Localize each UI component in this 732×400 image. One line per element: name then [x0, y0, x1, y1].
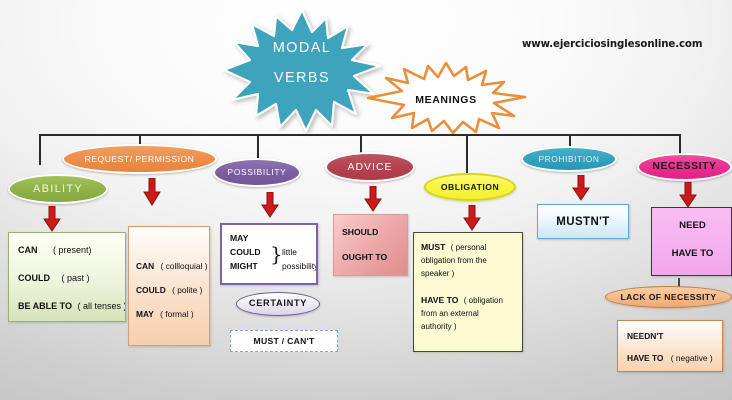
obligation-term-0: MUST	[421, 242, 445, 252]
branch-ellipse-possibility[interactable]: POSSIBILITY	[213, 158, 301, 187]
certainty-label: CERTAINTY	[249, 299, 307, 308]
ability-note-0: ( present)	[53, 245, 92, 255]
tree-stem-obligation	[466, 134, 468, 173]
sub-ellipse-lack-of-necessity[interactable]: LACK OF NECESSITY	[605, 286, 732, 308]
arrow-down-advice	[364, 186, 382, 212]
branch-ellipse-necessity[interactable]: NECESSITY	[637, 153, 732, 181]
possibility-term-1: COULD	[230, 247, 261, 257]
possibility-term-2: MIGHT	[230, 261, 258, 271]
diagram-canvas: MODAL VERBS MEANINGS www.ejerciciosingle…	[0, 0, 732, 400]
request-term-1: COULD	[136, 285, 166, 295]
obligation-note-1-line3: authority )	[421, 322, 503, 331]
branch-label-obligation: OBLIGATION	[441, 183, 499, 192]
lack-of-necessity-label: LACK OF NECESSITY	[620, 293, 716, 302]
branch-label-prohibition: PROHIBITION	[538, 155, 599, 163]
branch-ellipse-prohibition[interactable]: PROHIBITION	[521, 146, 617, 172]
obligation-note-0-line3: speaker )	[421, 269, 487, 278]
ability-term-2: BE ABLE TO	[18, 301, 72, 311]
box-prohibition: MUSTN'T	[537, 204, 629, 239]
tree-stem-ability	[39, 134, 41, 165]
arrow-down-possibility	[261, 192, 279, 218]
ability-row-0: CAN ( present)	[18, 245, 92, 255]
box-obligation: MUST ( personal obligation from the spea…	[413, 232, 523, 352]
modal-verbs-title-line1: MODAL	[222, 40, 382, 56]
arrow-down-necessity	[679, 182, 697, 208]
request-note-0: ( collloquial )	[160, 261, 207, 271]
box-necessity: NEED HAVE TO	[651, 207, 732, 276]
request-term-2: MAY	[136, 309, 154, 319]
branch-label-necessity: NECESSITY	[652, 162, 716, 172]
branch-label-ability: ABILITY	[33, 184, 83, 195]
lack-note-1: ( negative )	[671, 353, 713, 363]
box-ability: CAN ( present) COULD ( past ) BE ABLE TO…	[8, 232, 126, 322]
request-note-2: ( formal )	[160, 309, 194, 319]
request-row-2: MAY ( formal )	[136, 309, 194, 319]
branch-ellipse-ability[interactable]: ABILITY	[8, 174, 108, 204]
lack-term-0: NEEDN'T	[627, 331, 663, 341]
obligation-note-1-line2: from an external	[421, 309, 503, 318]
branch-label-possibility: POSSIBILITY	[228, 168, 287, 176]
box-lack-of-necessity: NEEDN'T HAVE TO ( negative )	[617, 320, 723, 372]
prohibition-term-0: MUSTN'T	[556, 216, 609, 228]
obligation-note-0-line2: obligation from the	[421, 256, 487, 265]
tree-stem-necessity	[679, 134, 681, 154]
site-url: www.ejerciciosinglesonline.com	[522, 39, 702, 50]
advice-term-0: SHOULD	[342, 227, 378, 237]
box-certainty-values: MUST / CAN'T	[230, 330, 338, 352]
obligation-entry-0-line1: MUST ( personal	[421, 242, 487, 252]
lack-term-1: HAVE TO	[627, 353, 663, 363]
obligation-term-1: HAVE TO	[421, 295, 458, 305]
certainty-values: MUST / CAN'T	[253, 336, 314, 346]
branch-ellipse-obligation[interactable]: OBLIGATION	[424, 173, 516, 201]
arrow-down-ability	[43, 206, 61, 232]
necessity-term-0: NEED	[652, 220, 732, 231]
modal-verbs-title-line2: VERBS	[222, 70, 382, 86]
advice-term-1: OUGHT TO	[342, 252, 387, 262]
arrow-down-obligation	[463, 205, 481, 231]
request-term-0: CAN	[136, 261, 154, 271]
request-note-1: ( polite )	[172, 285, 202, 295]
ability-note-1: ( past )	[62, 273, 90, 283]
branch-label-request-permission: REQUEST/ PERMISSION	[85, 155, 195, 164]
obligation-note-0-line1: ( personal	[451, 243, 487, 252]
arrow-down-request-permission	[143, 178, 161, 206]
obligation-entry-1-line1: HAVE TO ( obligation	[421, 295, 503, 305]
tree-stem-possibility	[257, 134, 259, 161]
request-row-0: CAN ( collloquial )	[136, 261, 208, 271]
box-possibility: MAY COULD MIGHT } little possibility	[220, 223, 318, 285]
necessity-term-1: HAVE TO	[652, 248, 732, 259]
meanings-label: MEANINGS	[360, 94, 532, 106]
branch-label-advice: ADVICE	[347, 162, 392, 173]
possibility-brace-icon: }	[270, 244, 283, 264]
ability-row-1: COULD ( past )	[18, 273, 90, 283]
sub-ellipse-certainty[interactable]: CERTAINTY	[236, 292, 320, 316]
possibility-note-line1: little	[282, 247, 297, 257]
branch-ellipse-advice[interactable]: ADVICE	[325, 152, 415, 182]
possibility-term-0: MAY	[230, 233, 248, 243]
branch-ellipse-request-permission[interactable]: REQUEST/ PERMISSION	[62, 144, 217, 174]
box-request-permission: CAN ( collloquial ) COULD ( polite ) MAY…	[128, 226, 210, 346]
ability-term-1: COULD	[18, 273, 50, 283]
request-row-1: COULD ( polite )	[136, 285, 202, 295]
ability-term-0: CAN	[18, 245, 38, 255]
ability-note-2: ( all tenses )	[78, 301, 126, 311]
box-advice: SHOULD OUGHT TO	[333, 214, 408, 276]
arrow-down-prohibition	[572, 175, 590, 201]
obligation-note-1-line1: ( obligation	[464, 296, 503, 305]
possibility-note-line2: possibility	[282, 261, 318, 271]
ability-row-2: BE ABLE TO ( all tenses )	[18, 301, 126, 311]
lack-row-1: HAVE TO ( negative )	[627, 353, 713, 363]
